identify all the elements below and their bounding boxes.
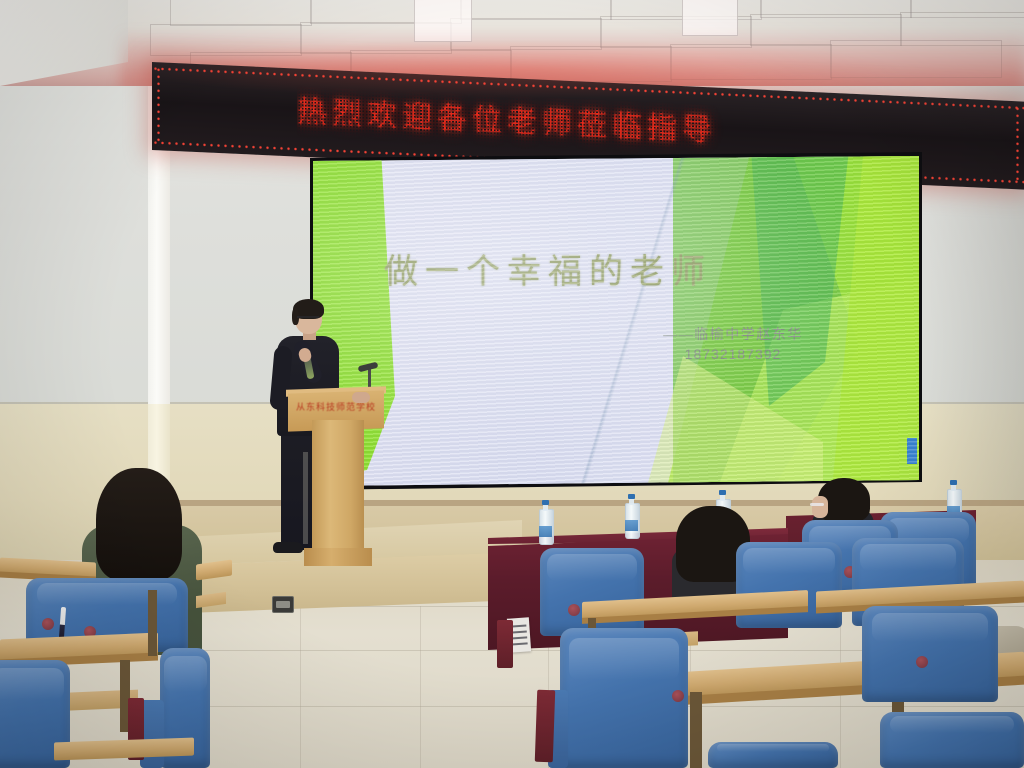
floor-tile-line <box>300 606 301 768</box>
seat[interactable] <box>736 542 842 628</box>
power-outlet[interactable] <box>272 596 294 613</box>
floor-tile-line <box>420 606 421 768</box>
ceiling-tile <box>170 0 312 26</box>
attendee-left-hair <box>96 468 182 580</box>
seat[interactable] <box>862 606 998 702</box>
ceiling-tile <box>460 0 612 20</box>
auditorium-scene: 热烈欢迎各位老师莅临指导 做一个幸福的老师 ——临榆中学赵东华 18732187… <box>0 0 1024 768</box>
led-dot-col-right <box>1015 105 1020 184</box>
bottle-label <box>539 526 552 537</box>
speaker-leg-gap <box>303 452 308 544</box>
desk-leg <box>690 692 702 768</box>
slide-phone-number: 18732187392 <box>613 346 853 362</box>
bottle-cap <box>950 480 957 485</box>
bottle-label <box>625 520 638 531</box>
podium-base <box>304 548 372 566</box>
seat-armrest-panel <box>535 690 556 763</box>
speaker-glasses <box>297 316 319 318</box>
bottle-cap <box>542 500 549 505</box>
slide-hairline <box>313 156 919 486</box>
bottle-neck <box>629 498 634 505</box>
seat-logo-icon <box>42 618 54 630</box>
attendee-right-glasses <box>810 503 824 506</box>
seat[interactable] <box>880 712 1024 768</box>
bottle-neck <box>720 494 725 501</box>
seat-logo-icon <box>916 656 928 668</box>
bottle-neck <box>951 484 956 491</box>
bottle-neck <box>543 504 548 511</box>
speaker-shoe <box>273 542 303 553</box>
seat[interactable] <box>560 628 688 768</box>
bottle-cap <box>719 490 726 495</box>
seat-logo-icon <box>568 604 580 616</box>
table-card-line <box>512 642 528 645</box>
attendee-right-face <box>812 496 828 518</box>
led-dot-col-left <box>156 66 161 145</box>
slide-edge-marker <box>907 438 917 464</box>
bottle-cap <box>628 494 635 499</box>
table-card-line <box>511 636 527 639</box>
podium-body <box>312 420 364 560</box>
seat-logo-icon <box>672 690 684 702</box>
projection-screen: 做一个幸福的老师 ——临榆中学赵东华 18732187392 <box>313 156 919 486</box>
slide-title: 做一个幸福的老师 <box>313 244 783 293</box>
desk-leg <box>148 590 157 656</box>
seat[interactable] <box>708 742 838 768</box>
slide-subtitle: ——临榆中学赵东华 <box>613 324 853 344</box>
seat-armrest-panel <box>497 620 513 668</box>
speaker-resting-hand <box>352 392 370 403</box>
table-card-line <box>511 630 527 633</box>
